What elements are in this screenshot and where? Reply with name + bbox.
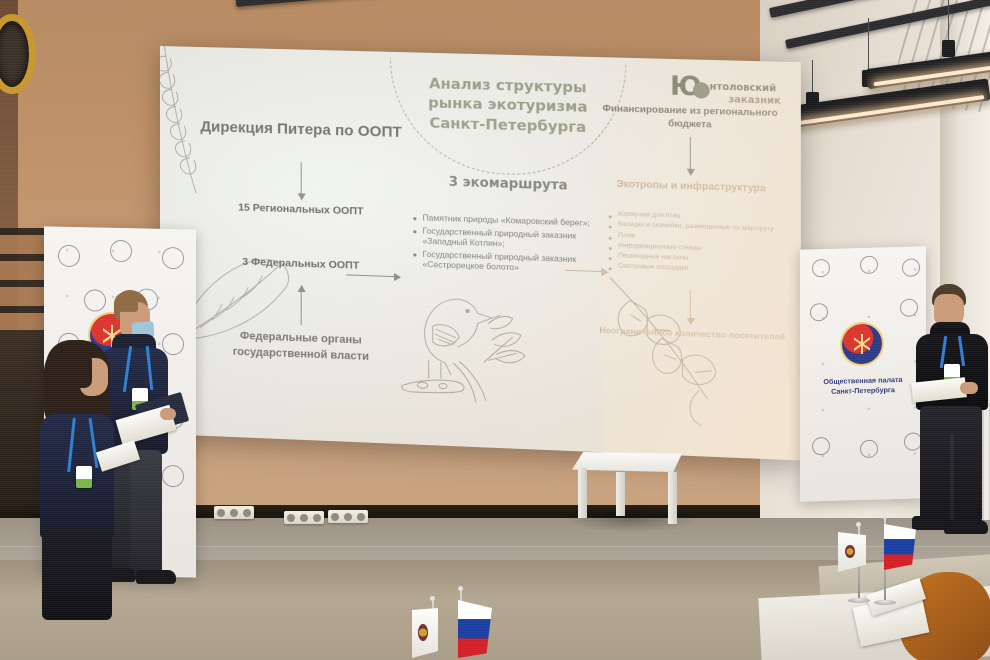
arrow-down-1 xyxy=(301,162,302,194)
arrow-down-2 xyxy=(690,137,691,170)
node-federal-oopt: 3 Федеральных ООПТ xyxy=(205,254,397,275)
power-outlet[interactable] xyxy=(328,510,368,523)
arrow-up-1 xyxy=(301,291,302,325)
lamp-mount xyxy=(942,40,955,57)
banner-right: Общественная палата Санкт-Петербурга xyxy=(800,246,926,502)
node-regional-oopt: 15 Региональных ООПТ xyxy=(205,199,397,219)
arrow-down-3 xyxy=(690,290,691,319)
bird-illustration xyxy=(394,280,537,407)
logo-circle-icon xyxy=(693,82,710,99)
slide-title: Анализ структуры рынка экотуризма Санкт-… xyxy=(405,74,611,138)
arrow-right-1 xyxy=(346,274,395,277)
name-badge xyxy=(76,466,92,488)
power-outlet[interactable] xyxy=(214,506,254,519)
russia-flag xyxy=(884,524,916,570)
presentation-slide: Анализ структуры рынка экотуризма Санкт-… xyxy=(160,46,801,461)
projection-screen: Анализ структуры рынка экотуризма Санкт-… xyxy=(160,46,801,461)
funding-heading: Финансирование из регионального бюджета xyxy=(591,102,789,135)
infrastructure-list: Кормушки для птиц Беседки и скамейки, ра… xyxy=(606,210,781,279)
left-column-heading: Дирекция Питера по ООПТ xyxy=(200,117,402,142)
ecoroutes-list: Памятник природы «Комаровский берег»; Го… xyxy=(410,212,616,279)
branch-decoration xyxy=(599,273,766,432)
infrastructure-heading: Экотропы и инфраструктура xyxy=(597,177,785,197)
node-federal-authority: Федеральные органы государственной власт… xyxy=(195,327,407,367)
lamp-wire xyxy=(868,18,869,74)
logo-line1: нтоловский xyxy=(710,81,777,94)
power-outlet[interactable] xyxy=(284,511,324,524)
conference-room-photo: Анализ структуры рынка экотуризма Санкт-… xyxy=(0,0,990,660)
visitors-outcome: Неограниченное количество посетителей xyxy=(593,324,791,344)
white-side-table xyxy=(572,452,682,522)
mid-column-heading: 3 экомаршрута xyxy=(398,173,619,195)
list-item: Государственный природный заказник «Сест… xyxy=(423,248,616,276)
left-dark-panel xyxy=(0,330,44,530)
organization-flag xyxy=(412,608,438,658)
russia-flag xyxy=(458,600,492,658)
